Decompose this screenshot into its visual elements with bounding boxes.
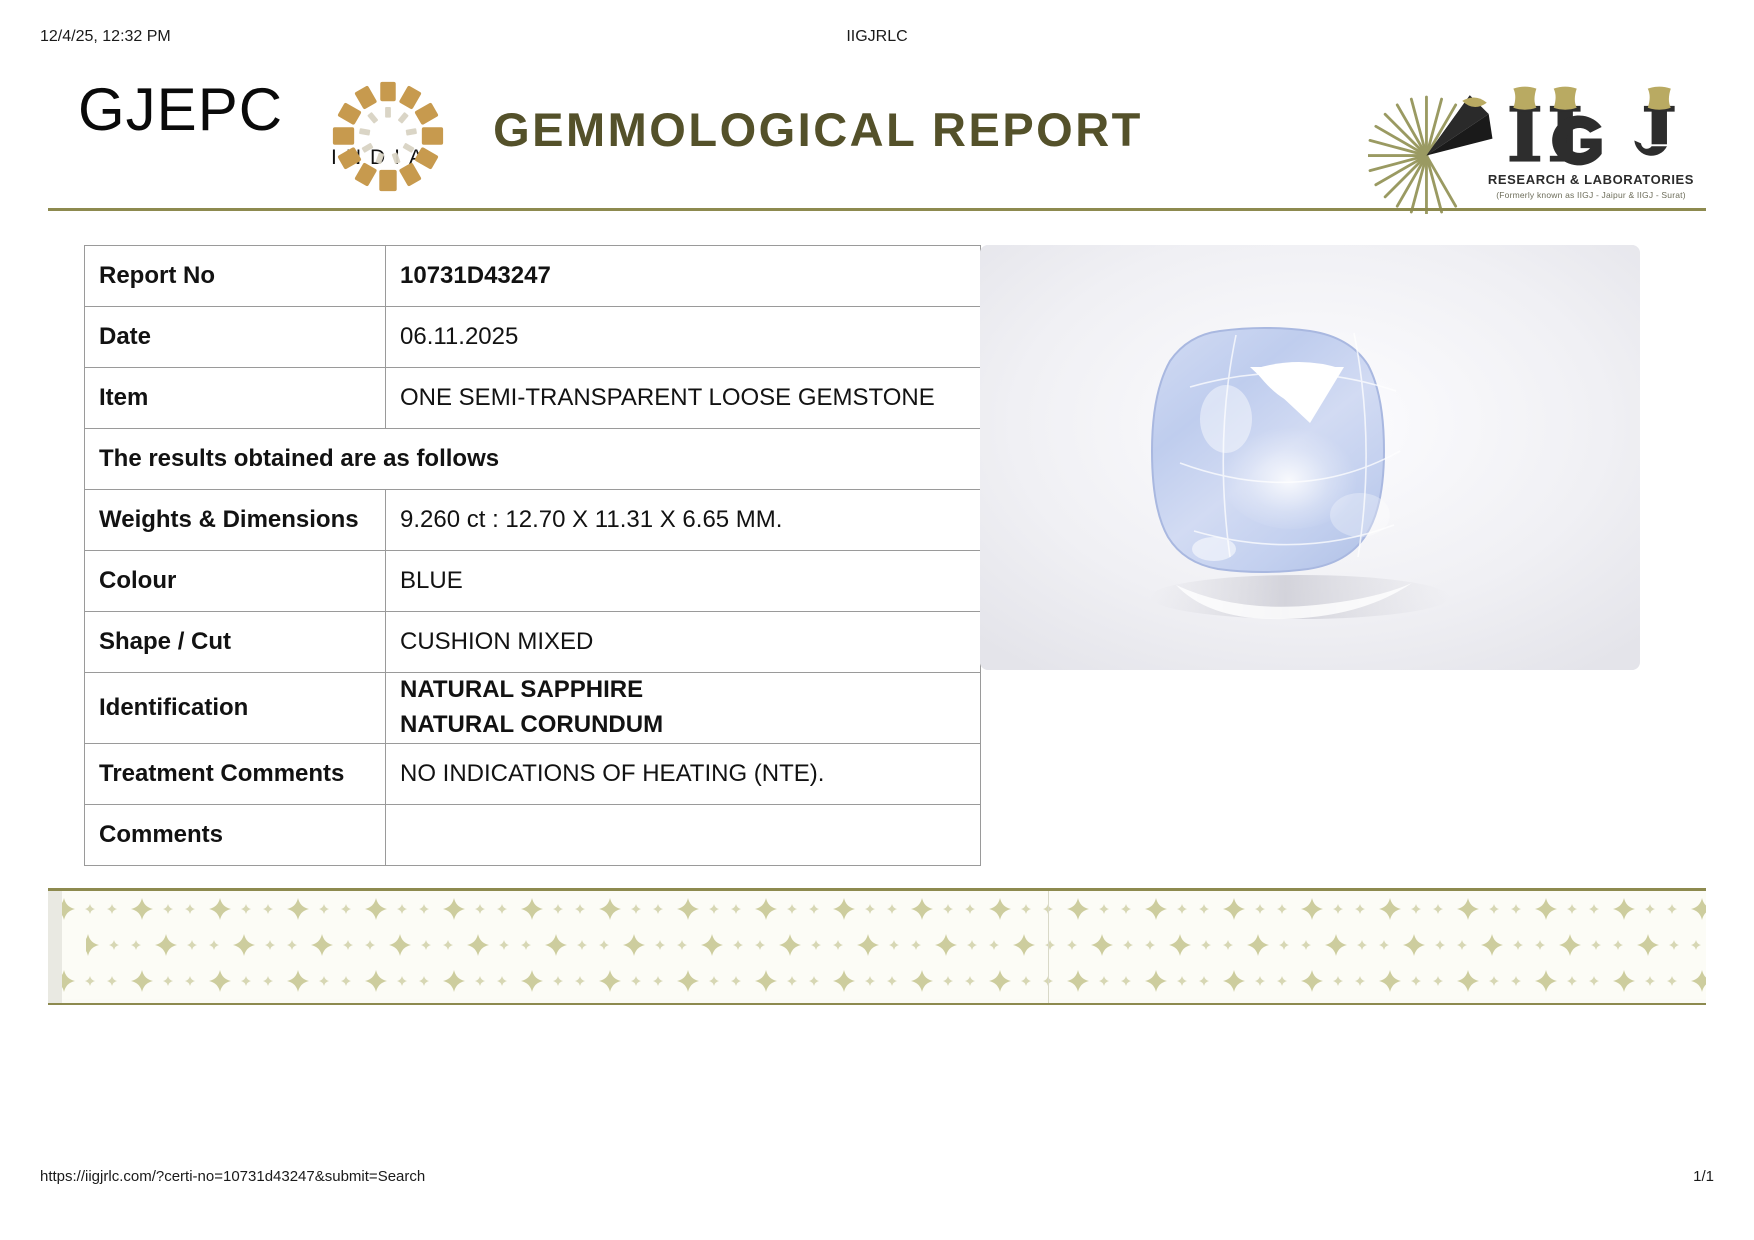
table-row-merged: The results obtained are as follows	[85, 429, 981, 490]
footer-page-number: 1/1	[1693, 1168, 1714, 1185]
identification-line-1: NATURAL SAPPHIRE	[400, 673, 966, 708]
footer-url: https://iigjrlc.com/?certi-no=10731d4324…	[40, 1168, 425, 1185]
row-value: CUSHION MIXED	[386, 612, 981, 673]
row-label: Colour	[85, 551, 386, 612]
masthead-divider	[48, 208, 1706, 211]
iigj-logo: RESEARCH & LABORATORIES (Formerly known …	[1366, 66, 1696, 211]
table-row: Shape / Cut CUSHION MIXED	[85, 612, 981, 673]
table-row: Report No 10731D43247	[85, 246, 981, 307]
band-left-tab	[48, 891, 62, 1003]
page-title: GEMMOLOGICAL REPORT	[468, 102, 1168, 157]
results-heading: The results obtained are as follows	[85, 429, 981, 490]
iigj-subtitle: RESEARCH & LABORATORIES	[1486, 172, 1696, 187]
table-row: Item ONE SEMI-TRANSPARENT LOOSE GEMSTONE	[85, 368, 981, 429]
sparkle-pattern-icon	[48, 891, 1706, 999]
table-row: Comments	[85, 804, 981, 865]
row-label: Weights & Dimensions	[85, 490, 386, 551]
print-footer: https://iigjrlc.com/?certi-no=10731d4324…	[0, 1168, 1754, 1192]
row-value: BLUE	[386, 551, 981, 612]
row-label: Shape / Cut	[85, 612, 386, 673]
table-row: Identification NATURAL SAPPHIRE NATURAL …	[85, 673, 981, 744]
row-label: Item	[85, 368, 386, 429]
row-value: NATURAL SAPPHIRE NATURAL CORUNDUM	[386, 673, 981, 744]
print-header-title: IIGJRLC	[0, 28, 1754, 46]
row-value: NO INDICATIONS OF HEATING (NTE).	[386, 743, 981, 804]
row-label: Date	[85, 307, 386, 368]
row-label: Treatment Comments	[85, 743, 386, 804]
print-header: 12/4/25, 12:32 PM IIGJRLC	[0, 28, 1754, 50]
row-label: Report No	[85, 246, 386, 307]
gemstone-photo	[980, 245, 1640, 670]
report-content: Report No 10731D43247 Date 06.11.2025 It…	[84, 245, 1672, 866]
table-row: Date 06.11.2025	[85, 307, 981, 368]
report-details-table: Report No 10731D43247 Date 06.11.2025 It…	[84, 245, 981, 866]
row-value: 9.260 ct : 12.70 X 11.31 X 6.65 MM.	[386, 490, 981, 551]
row-label: Identification	[85, 673, 386, 744]
table-row: Weights & Dimensions 9.260 ct : 12.70 X …	[85, 490, 981, 551]
row-value: 06.11.2025	[386, 307, 981, 368]
row-value	[386, 804, 981, 865]
table-row: Treatment Comments NO INDICATIONS OF HEA…	[85, 743, 981, 804]
row-value: ONE SEMI-TRANSPARENT LOOSE GEMSTONE	[386, 368, 981, 429]
gjepc-logo: GJEPC INDIA	[78, 80, 438, 190]
table-row: Colour BLUE	[85, 551, 981, 612]
masthead: GJEPC INDIA	[48, 62, 1706, 207]
iigj-subtitle-secondary: (Formerly known as IIGJ - Jaipur & IIGJ …	[1476, 190, 1706, 200]
row-label: Comments	[85, 804, 386, 865]
identification-line-2: NATURAL CORUNDUM	[400, 708, 966, 743]
iigj-wordmark	[1498, 82, 1690, 172]
row-value: 10731D43247	[386, 246, 981, 307]
security-pattern-band	[48, 888, 1706, 1005]
gold-sunburst-icon	[330, 78, 446, 194]
band-divider	[1048, 891, 1049, 1003]
